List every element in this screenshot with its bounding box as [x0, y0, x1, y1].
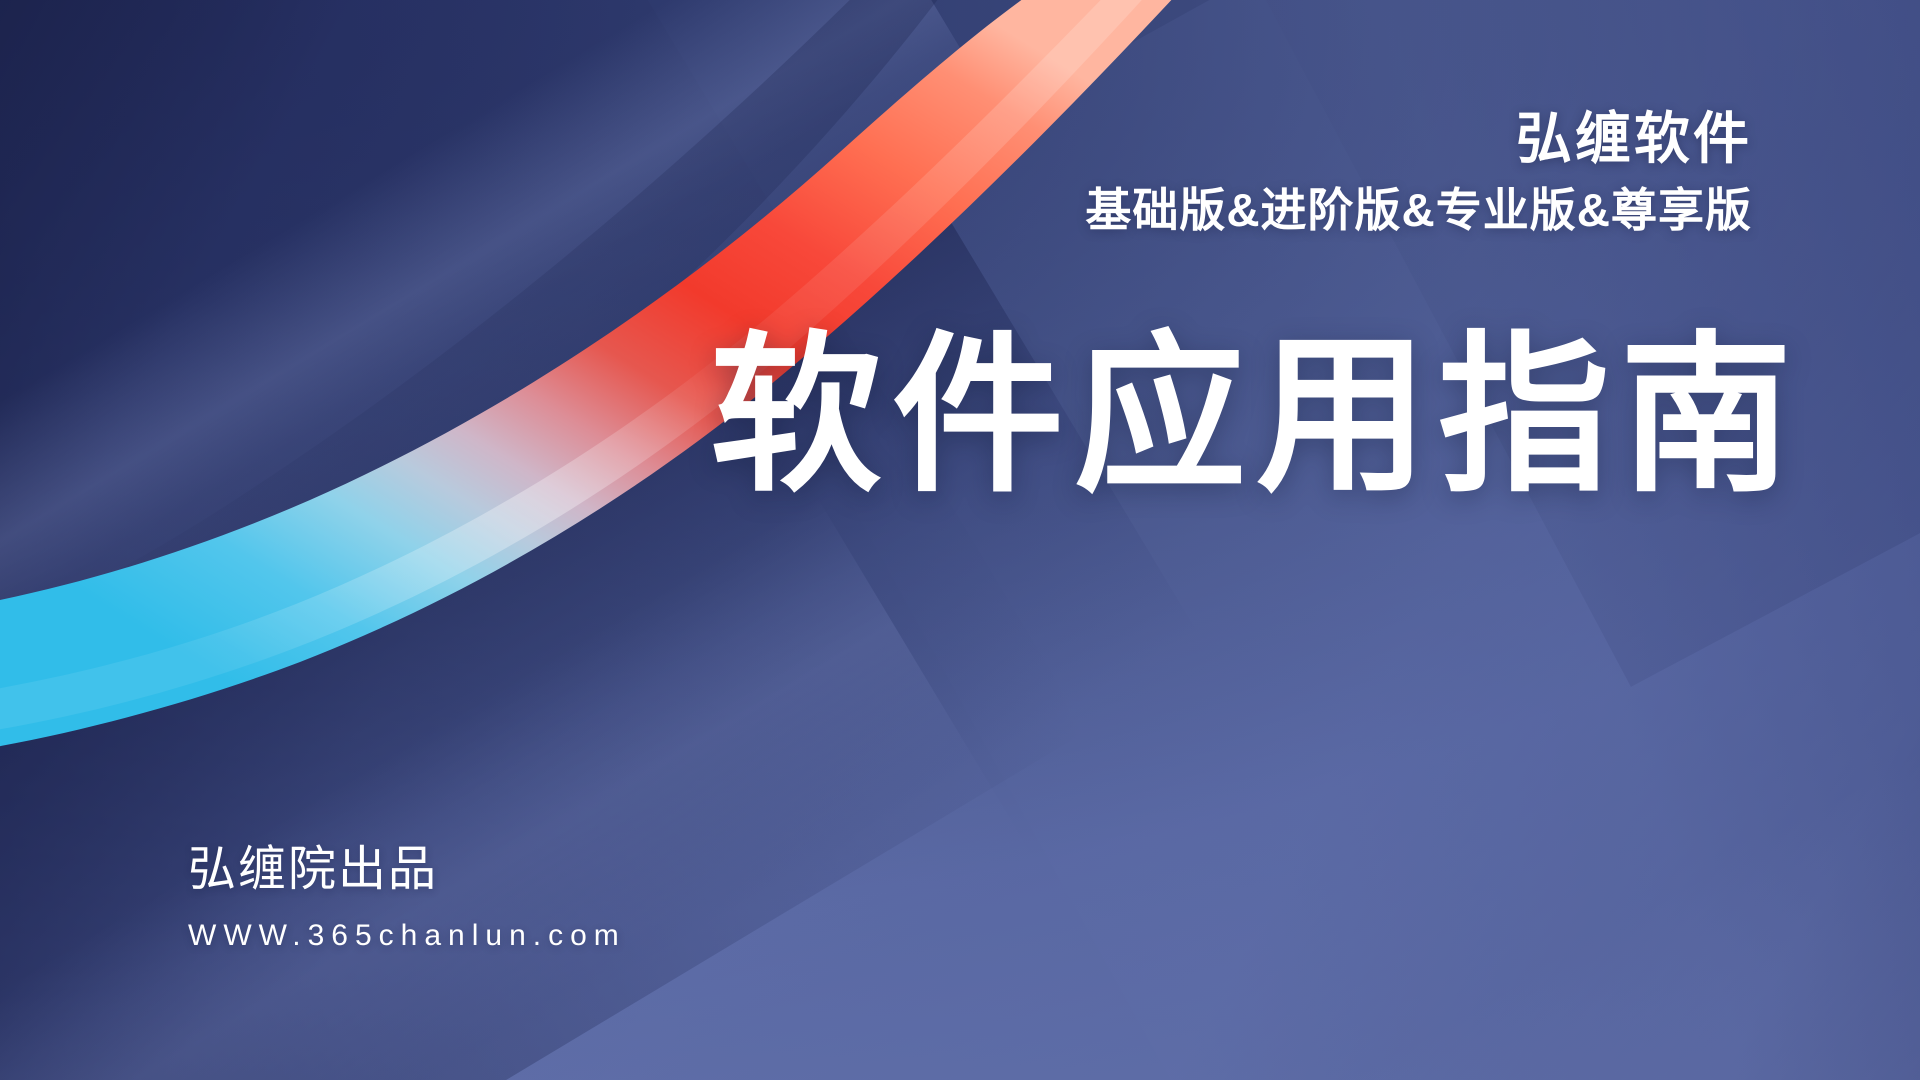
footer-publisher: 弘缠院出品	[188, 842, 626, 897]
footer-block: 弘缠院出品 WWW.365chanlun.com	[188, 842, 626, 952]
title-slide: 弘缠软件 基础版&进阶版&专业版&尊享版 软件应用指南 弘缠院出品 WWW.36…	[0, 0, 1920, 1080]
page-title: 软件应用指南	[0, 330, 1802, 502]
brand-block: 弘缠软件 基础版&进阶版&专业版&尊享版	[1085, 108, 1752, 236]
brand-title: 弘缠软件	[1085, 108, 1752, 170]
brand-editions: 基础版&进阶版&专业版&尊享版	[1085, 184, 1752, 237]
footer-website-url: WWW.365chanlun.com	[188, 919, 626, 952]
